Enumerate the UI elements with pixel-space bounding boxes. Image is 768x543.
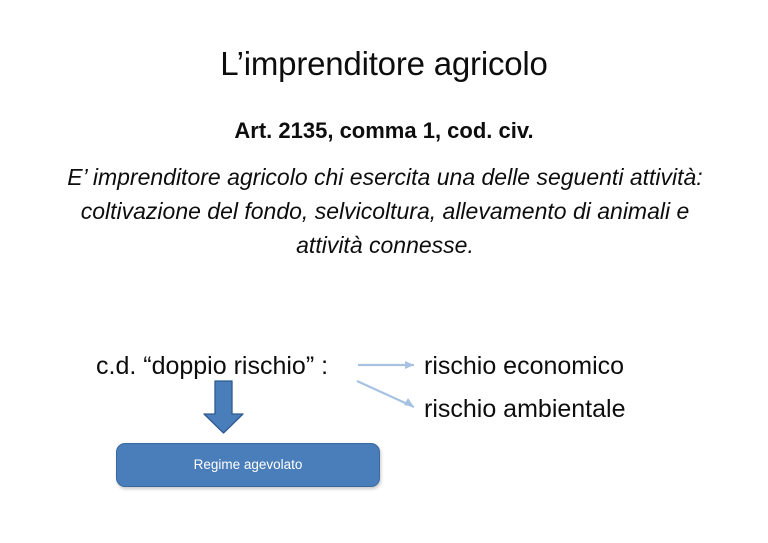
slide-canvas: L’imprenditore agricolo Art. 2135, comma…: [0, 0, 768, 543]
definition-paragraph: E’ imprenditore agricolo chi esercita un…: [64, 160, 706, 262]
thin-arrow-right-icon: [358, 361, 414, 369]
dual-risk-label: c.d. “doppio rischio” :: [96, 350, 328, 382]
thick-down-arrow-icon: [204, 381, 243, 433]
branch-label-environmental-risk: rischio ambientale: [424, 393, 626, 425]
regime-agevolato-button[interactable]: Regime agevolato: [116, 443, 380, 487]
article-reference-heading: Art. 2135, comma 1, cod. civ.: [0, 117, 768, 145]
page-title: L’imprenditore agricolo: [0, 44, 768, 84]
regime-agevolato-button-label: Regime agevolato: [194, 456, 303, 474]
thin-arrow-diagonal-icon: [357, 381, 414, 407]
branch-label-economic-risk: rischio economico: [424, 350, 624, 382]
